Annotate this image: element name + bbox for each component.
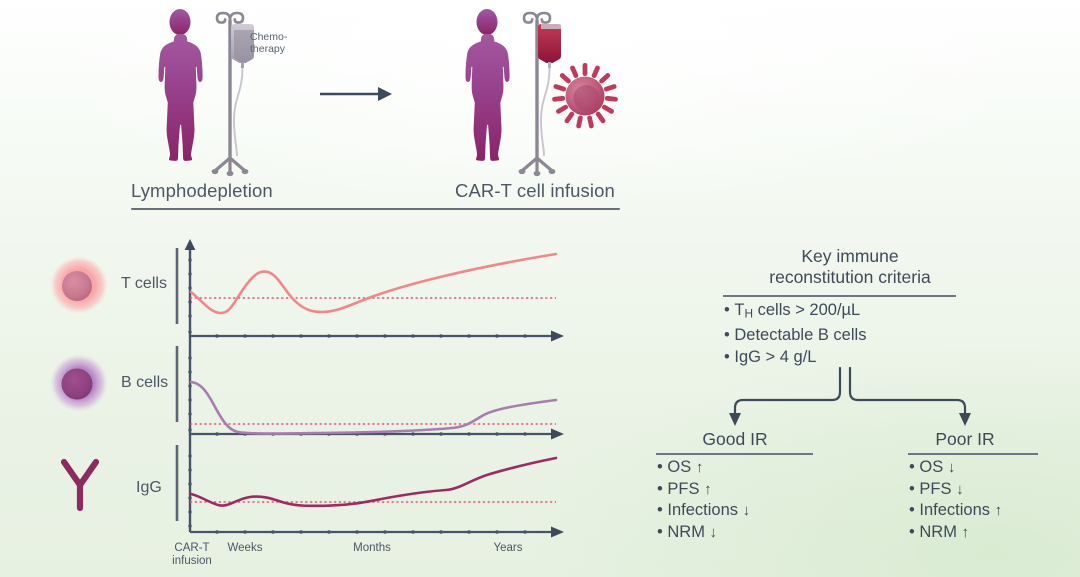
- immune-reconstitution-chart: [170, 240, 570, 540]
- poor-ir-item-infections: • Infections ↑: [909, 500, 1002, 522]
- criteria-list: • TH cells > 200/µL • Detectable B cells…: [724, 300, 866, 368]
- chemo-label-line2: therapy: [250, 43, 285, 55]
- stage-label-lymphodepletion: Lymphodepletion: [131, 180, 273, 202]
- criteria-item-igg: • IgG > 4 g/L: [724, 347, 866, 369]
- good-ir-item-infections: • Infections ↓: [657, 500, 750, 522]
- x-tick-label-years: Years: [485, 542, 531, 555]
- poor-ir-item-pfs: • PFS ↓: [909, 479, 1002, 501]
- chemo-label-line1: Chemo-: [250, 31, 287, 43]
- x-tick-label-cart-line2: infusion: [172, 555, 212, 567]
- good-ir-item-pfs: • PFS ↑: [657, 479, 750, 501]
- poor-ir-item-os: • OS ↓: [909, 457, 1002, 479]
- outcome-heading-good-ir: Good IR: [660, 429, 810, 450]
- criteria-title-line2: reconstitution criteria: [769, 267, 930, 287]
- criteria-item-b-cells: • Detectable B cells: [724, 325, 866, 347]
- outcome-heading-poor-ir: Poor IR: [890, 429, 1040, 450]
- branching-arrow-icon: [705, 368, 995, 430]
- igg-antibody-icon: [56, 455, 104, 515]
- good-ir-list: • OS ↑ • PFS ↑ • Infections ↓ • NRM ↓: [657, 457, 750, 543]
- poor-ir-item-nrm: • NRM ↑: [909, 522, 1002, 544]
- poor-ir-rule: [908, 453, 1038, 455]
- x-tick-label-weeks: Weeks: [220, 542, 270, 555]
- series-line-igg: [191, 458, 556, 506]
- b-cell-icon: [48, 352, 110, 414]
- patient-silhouette-icon: [465, 9, 509, 161]
- panel-t-cells: [190, 254, 564, 342]
- poor-ir-list: • OS ↓ • PFS ↓ • Infections ↑ • NRM ↑: [909, 457, 1002, 543]
- criteria-item-th-cells: • TH cells > 200/µL: [724, 300, 866, 325]
- good-ir-rule: [656, 453, 813, 455]
- y-axis: [185, 239, 196, 532]
- right-arrow-icon: [318, 84, 396, 104]
- patient-silhouette-icon: [158, 9, 202, 161]
- chemo-label: Chemo- therapy: [250, 31, 287, 55]
- stage-label-cart-infusion: CAR-T cell infusion: [455, 180, 615, 202]
- good-ir-item-os: • OS ↑: [657, 457, 750, 479]
- panel-igg: [190, 458, 564, 538]
- x-tick-label-months: Months: [345, 542, 399, 555]
- good-ir-item-nrm: • NRM ↓: [657, 522, 750, 544]
- t-cell-icon: [48, 254, 110, 316]
- cart-infusion-illustration: [437, 6, 637, 186]
- criteria-rule: [723, 295, 956, 297]
- row-label-b-cells: B cells: [121, 374, 168, 392]
- cart-cell-iv-bag-icon: [538, 24, 561, 156]
- section-divider: [131, 208, 620, 210]
- lymphodepletion-illustration: [130, 6, 330, 186]
- row-label-igg: IgG: [136, 479, 162, 497]
- x-tick-label-cart-line1: CAR-T: [174, 542, 209, 554]
- figure-canvas: Chemo- therapy Lymphodepletion: [0, 0, 1080, 577]
- series-line-t-cells: [191, 254, 556, 313]
- row-label-t-cells: T cells: [121, 275, 167, 293]
- criteria-title: Key immune reconstitution criteria: [700, 246, 1000, 288]
- car-t-cell-icon: [552, 63, 618, 129]
- criteria-title-line1: Key immune: [801, 246, 898, 266]
- series-line-b-cells: [191, 382, 556, 434]
- panel-b-cells: [190, 382, 564, 440]
- x-tick-label-cart-infusion: CAR-T infusion: [164, 542, 220, 567]
